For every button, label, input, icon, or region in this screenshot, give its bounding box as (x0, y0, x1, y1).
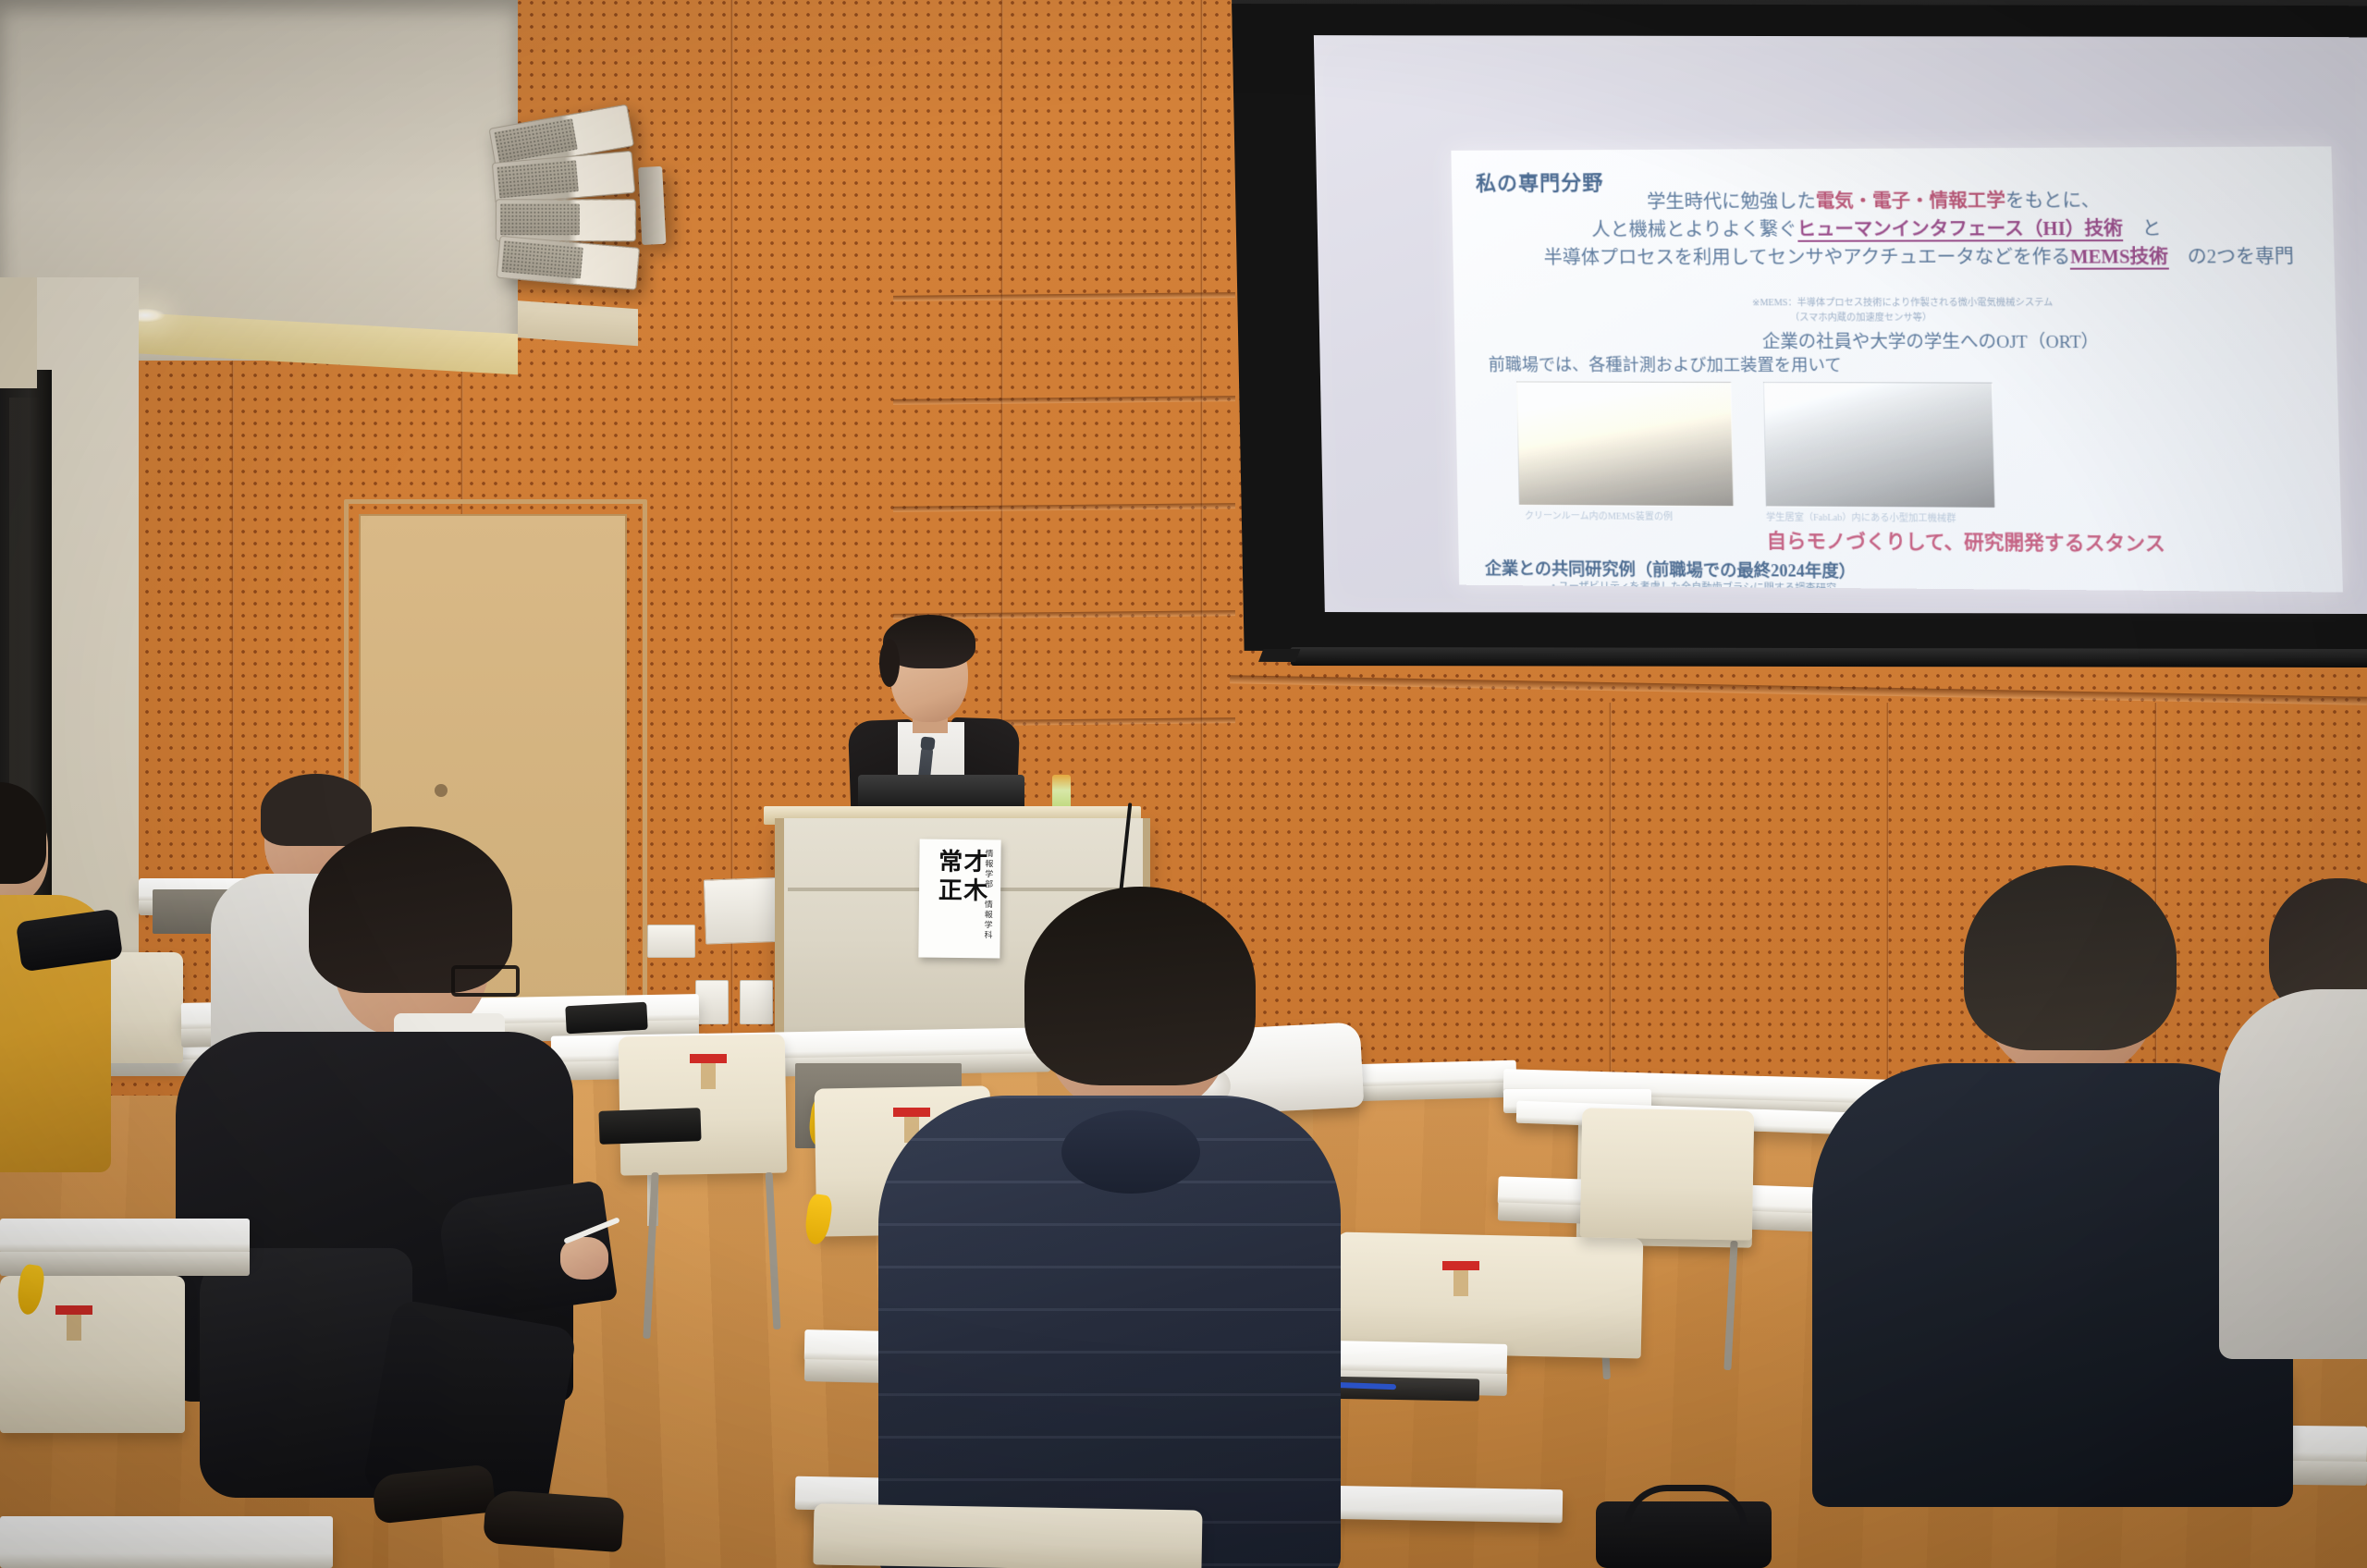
slide-stance-text: 自らモノづくりして、研究開発するスタンス (1766, 526, 2165, 557)
slide-photo-fablab (1763, 382, 1995, 508)
chair-label-tag (1442, 1261, 1479, 1270)
slide-photo-caption: クリーンルーム内のMEMS装置の例 (1525, 508, 1673, 522)
slide-note-2: （スマホ内蔵の加速度センサ等） (1790, 309, 1932, 323)
desk (0, 1219, 250, 1254)
chair[interactable] (813, 1503, 1202, 1568)
jacket-collar (1061, 1110, 1200, 1194)
slide-line-1: 学生時代に勉強した電気・電子・情報工学をもとに、 (1647, 185, 2101, 214)
chair-label-tag (690, 1054, 727, 1063)
slide-prev-line: 前職場では、各種計測および加工装置を用いて (1488, 351, 1842, 376)
eyeglasses-icon (451, 965, 520, 997)
screen-bottom-bar (1291, 647, 2367, 668)
phone-case[interactable] (598, 1108, 701, 1145)
slide-title: 私の専門分野 (1476, 166, 1604, 197)
audience-body (2219, 989, 2367, 1359)
slide-line-2: 人と機械とよりよく繋ぐヒューマンインタフェース（HI）技術 と (1591, 213, 2162, 241)
chair[interactable] (1336, 1232, 1644, 1359)
speaker-bracket (638, 166, 666, 245)
wall-power-outlet[interactable] (740, 980, 773, 1024)
desk (0, 1516, 333, 1568)
audience-hair (1024, 887, 1256, 1085)
wall-speaker-pa (490, 112, 652, 295)
audience-hair (1964, 865, 2177, 1050)
projection-screen: 私の専門分野 学生時代に勉強した電気・電子・情報工学をもとに、 人と機械とよりよ… (1232, 0, 2367, 695)
chair[interactable] (1580, 1108, 1754, 1240)
audience-member-greytop (2219, 878, 2367, 1359)
wall-return (0, 277, 37, 388)
presenter-hair (883, 615, 975, 668)
wall-power-outlet[interactable] (695, 980, 729, 1024)
slide-ojt-line: 企業の社員や大学の学生へのOJT（ORT） (1762, 328, 2100, 354)
slide-photo-caption: 学生居室（FabLab）内にある小型加工機械群 (1766, 508, 1956, 523)
audience-member-yellow (0, 795, 194, 1183)
shoe (483, 1489, 625, 1552)
audience-hand (560, 1237, 608, 1280)
audience-hair (0, 782, 46, 884)
slide-photo-cleanroom (1516, 381, 1734, 507)
scene-root: 私の専門分野 学生時代に勉強した電気・電子・情報工学をもとに、 人と機械とよりよ… (0, 0, 2367, 1568)
projected-slide: 私の専門分野 学生時代に勉強した電気・電子・情報工学をもとに、 人と機械とよりよ… (1451, 146, 2343, 592)
slide-note-1: ※MEMS：半導体プロセス技術により作製される微小電気機械システム (1752, 294, 2054, 308)
audience-member-downjacket (888, 901, 1368, 1567)
slide-line-3: 半導体プロセスを利用してセンサやアクチュエータなどを作るMEMS技術 の2つを専… (1543, 241, 2294, 270)
chair-label-tag (55, 1305, 92, 1315)
